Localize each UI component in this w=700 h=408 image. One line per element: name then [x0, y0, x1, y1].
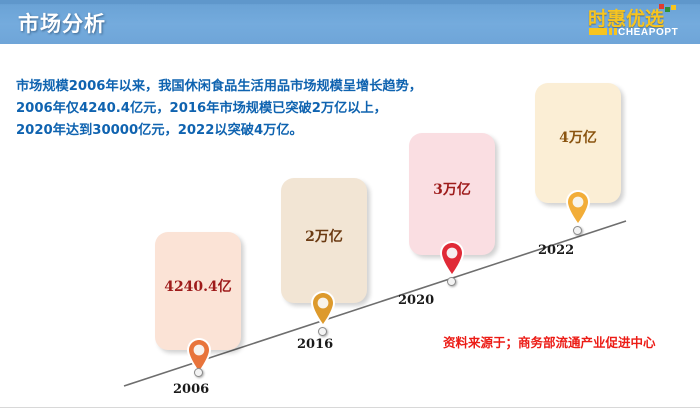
intro-paragraph: 市场规模2006年以来，我国休闲食品生活用品市场规模呈增长趋势， 2006年仅4…	[16, 76, 486, 142]
milestone-value-2016: 2万亿	[281, 226, 367, 246]
timeline-node-2016	[318, 327, 327, 336]
timeline-node-2006	[194, 368, 203, 377]
milestone-card-2006[interactable]: 4240.4亿	[155, 232, 241, 350]
timeline-year-2016: 2016	[297, 337, 333, 352]
logo-dot-green-icon	[665, 7, 670, 12]
header-bar: 市场分析 时惠优选 CHEAPOPT	[0, 0, 700, 44]
slide-root: 市场分析 时惠优选 CHEAPOPT 市场规模2006年以来，我国休闲食品生活用…	[0, 0, 700, 408]
milestone-value-2022: 4万亿	[535, 127, 621, 147]
brand-logo[interactable]: 时惠优选 CHEAPOPT	[582, 3, 692, 41]
logo-name-en: CHEAPOPT	[618, 27, 678, 38]
source-note: 资料来源于；商务部流通产业促进中心	[443, 332, 656, 351]
map-pin-icon-2016[interactable]	[308, 289, 338, 329]
timeline-year-2020: 2020	[398, 293, 434, 308]
page-title: 市场分析	[18, 8, 106, 38]
timeline-year-2006: 2006	[173, 382, 209, 397]
map-pin-icon-2020[interactable]	[437, 239, 467, 279]
timeline-year-2022: 2022	[538, 243, 574, 258]
milestone-card-2016[interactable]: 2万亿	[281, 178, 367, 303]
intro-line-1: 市场规模2006年以来，我国休闲食品生活用品市场规模呈增长趋势，	[16, 76, 486, 98]
milestone-value-2020: 3万亿	[409, 179, 495, 199]
logo-dot-red-icon	[659, 4, 664, 9]
milestone-value-2006: 4240.4亿	[155, 276, 241, 296]
timeline-node-2020	[447, 277, 456, 286]
intro-line-2: 2006年仅4240.4亿元，2016年市场规模已突破2万亿以上，	[16, 98, 486, 120]
logo-dot-yellow-icon	[671, 5, 676, 10]
timeline-node-2022	[573, 226, 582, 235]
logo-bars-icon	[589, 28, 617, 35]
milestone-card-2022[interactable]: 4万亿	[535, 83, 621, 203]
map-pin-icon-2022[interactable]	[563, 188, 593, 228]
milestone-card-2020[interactable]: 3万亿	[409, 133, 495, 255]
